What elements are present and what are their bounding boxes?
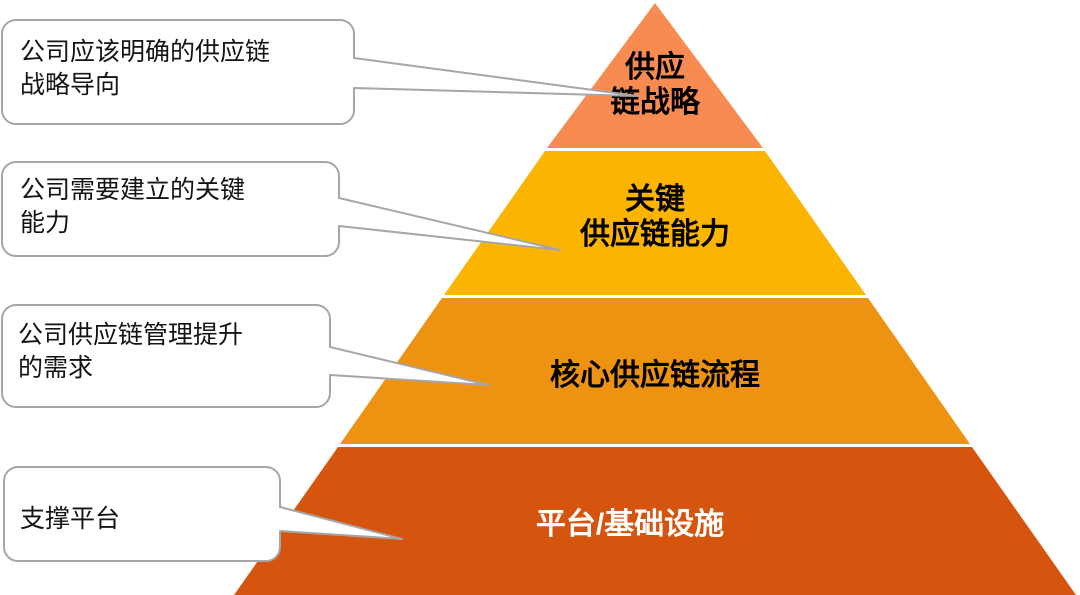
callout-supply-chain-strategy[interactable]: 公司应该明确的供应链 战略导向 — [0, 18, 740, 128]
callout-3-text: 公司供应链管理提升 的需求 — [18, 319, 348, 385]
pyramid-diagram-canvas: 供应 链战略 关键 供应链能力 核心供应链流程 平台/基础设施 公司应该明确的供… — [0, 0, 1080, 595]
callout-improvement-demand[interactable]: 公司供应链管理提升 的需求 — [0, 303, 740, 413]
callout-4-text: 支撑平台 — [20, 503, 300, 536]
callout-key-capabilities[interactable]: 公司需要建立的关键 能力 — [0, 160, 740, 265]
callout-support-platform[interactable]: 支撑平台 — [2, 465, 742, 570]
callout-2-text: 公司需要建立的关键 能力 — [20, 174, 350, 240]
callout-1-text: 公司应该明确的供应链 战略导向 — [20, 36, 350, 102]
